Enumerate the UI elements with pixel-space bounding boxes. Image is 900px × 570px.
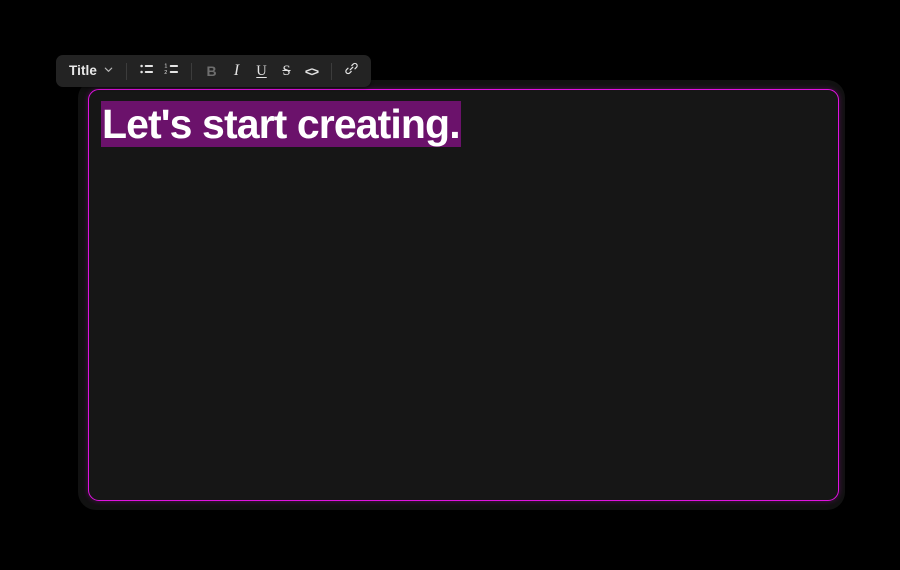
block-type-dropdown[interactable]: Title [63,59,119,83]
formatting-toolbar: Title 1 2 [56,55,371,87]
svg-text:2: 2 [164,70,167,76]
italic-icon: I [234,63,239,79]
document-title[interactable]: Let's start creating. [101,95,461,153]
numbered-list-button[interactable]: 1 2 [159,59,184,84]
underline-button[interactable]: U [249,59,274,84]
toolbar-separator-3 [331,63,332,80]
code-icon: <> [305,65,318,78]
toolbar-separator-2 [191,63,192,80]
svg-text:1: 1 [164,63,167,69]
bulleted-list-button[interactable] [134,59,159,84]
toolbar-separator-1 [126,63,127,80]
editor-frame[interactable]: Let's start creating. [88,89,839,501]
editor-content-area[interactable]: Let's start creating. [89,90,838,500]
code-button[interactable]: <> [299,59,324,84]
italic-button[interactable]: I [224,59,249,84]
app-root: Title 1 2 [0,0,900,570]
bold-button[interactable]: B [199,59,224,84]
block-type-label: Title [69,64,97,78]
bold-icon: B [206,64,216,78]
link-button[interactable] [339,59,364,84]
bulleted-list-icon [139,61,155,82]
strikethrough-button[interactable]: S [274,59,299,84]
selected-title-text: Let's start creating. [101,101,461,147]
underline-icon: U [256,64,266,79]
link-icon [344,61,359,81]
strikethrough-icon: S [282,64,290,79]
numbered-list-icon: 1 2 [164,61,180,82]
chevron-down-icon [103,62,114,80]
